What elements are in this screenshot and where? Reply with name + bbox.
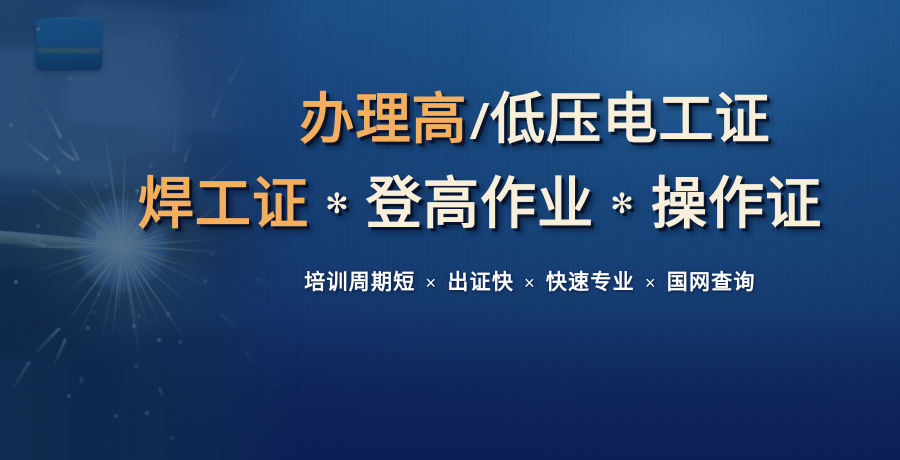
headline-line-3: 培训周期短×出证快×快速专业×国网查询 xyxy=(0,268,900,298)
headline-line-1-amber: 办理高 xyxy=(299,88,467,150)
headline-line-1: 办理高/低压电工证 xyxy=(0,88,900,154)
headline-line-2-cream-1: 登高作业 xyxy=(366,172,594,235)
headline-line-2: 焊工证✻登高作业✻操作证 xyxy=(0,172,900,236)
times-separator-icon: × xyxy=(416,273,448,293)
times-separator-icon: × xyxy=(514,273,546,293)
headline-block: 办理高/低压电工证 焊工证✻登高作业✻操作证 培训周期短×出证快×快速专业×国网… xyxy=(0,0,900,460)
star-separator-icon: ✻ xyxy=(594,188,651,219)
feature-item-4: 国网查询 xyxy=(667,271,756,294)
star-separator-icon: ✻ xyxy=(309,188,366,219)
promo-banner: 办理高/低压电工证 焊工证✻登高作业✻操作证 培训周期短×出证快×快速专业×国网… xyxy=(0,0,900,460)
headline-line-2-amber: 焊工证 xyxy=(138,172,309,235)
feature-item-2: 出证快 xyxy=(447,271,514,294)
headline-line-2-cream-2: 操作证 xyxy=(651,172,822,235)
feature-item-1: 培训周期短 xyxy=(304,271,415,294)
headline-line-1-slash: / xyxy=(468,96,490,149)
feature-item-3: 快速专业 xyxy=(546,271,635,294)
headline-line-1-cream: 低压电工证 xyxy=(490,88,771,150)
times-separator-icon: × xyxy=(635,273,667,293)
